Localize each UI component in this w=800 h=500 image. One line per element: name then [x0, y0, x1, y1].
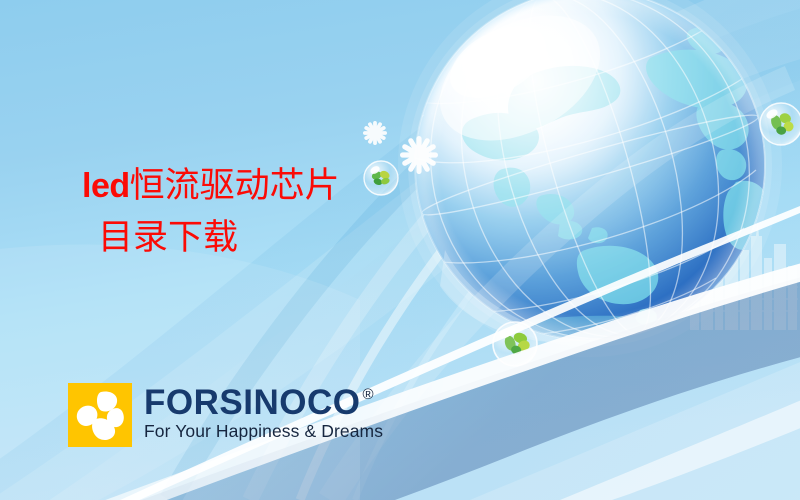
logo-tagline: For Your Happiness & Dreams [144, 422, 383, 441]
bubble-pinwheel-left [364, 161, 398, 195]
company-logo: FORSINOCO® For Your Happiness & Dreams [68, 383, 383, 447]
bubble-pinwheel-topright [760, 103, 800, 145]
registered-trademark-icon: ® [362, 387, 374, 402]
headline-text: led恒流驱动芯片 目录下载 [82, 163, 340, 260]
headline-cjk: 恒流驱动芯片 [130, 166, 340, 205]
headline-line-2: 目录下载 [82, 215, 340, 261]
headline-line-1: led恒流驱动芯片 [82, 163, 340, 209]
headline-latin: led [82, 167, 130, 205]
promotional-banner: led恒流驱动芯片 目录下载 FORSINO [0, 0, 800, 500]
logo-text-block: FORSINOCO® For Your Happiness & Dreams [144, 383, 383, 442]
logo-wordmark-text: FORSINOCO [144, 386, 360, 419]
logo-wordmark: FORSINOCO® [144, 386, 383, 419]
bottom-left-wash [0, 244, 360, 500]
four-petal-pinwheel-icon [68, 383, 132, 447]
